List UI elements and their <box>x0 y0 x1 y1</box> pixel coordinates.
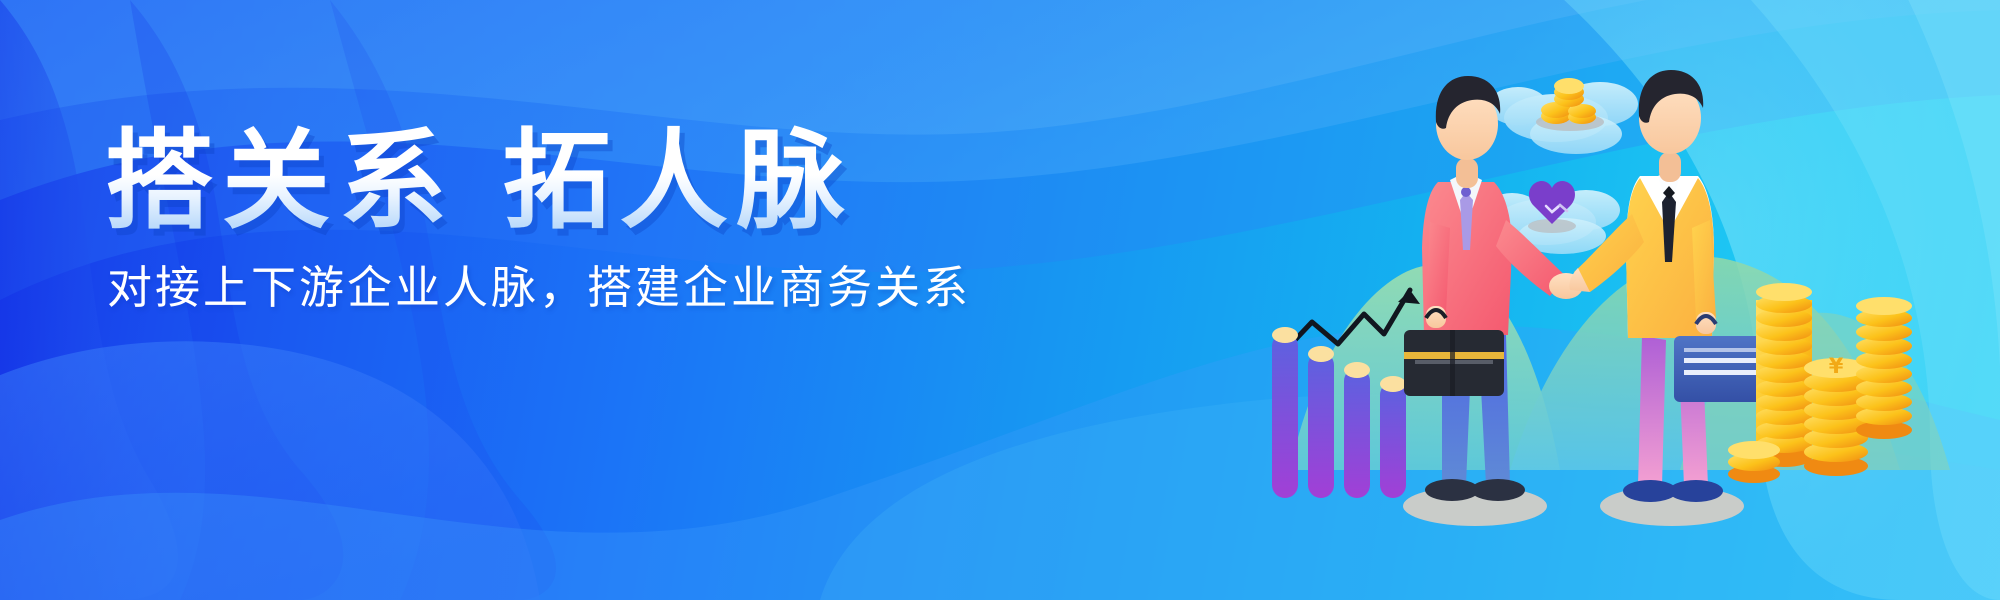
illustration-svg: ¥ <box>1260 0 2000 600</box>
right-person-shoe-b <box>1669 480 1723 502</box>
left-person-shoe-b <box>1471 479 1525 501</box>
left-person-shoe-a <box>1425 479 1479 501</box>
page-subtitle: 对接上下游企业人脉，搭建企业商务关系 <box>107 261 1005 315</box>
headline-block: 搭关系 拓人脉 对接上下游企业人脉，搭建企业商务关系 <box>105 125 1005 315</box>
business-illustration: ¥ <box>1260 0 2000 600</box>
coin-stack-right <box>1856 297 1912 439</box>
page-title: 搭关系 拓人脉 <box>105 125 1005 239</box>
promo-banner: 搭关系 拓人脉 对接上下游企业人脉，搭建企业商务关系 <box>0 0 2000 600</box>
yen-symbol: ¥ <box>1829 354 1844 378</box>
coin-stack-back <box>1756 283 1812 467</box>
cloud-bubble-coins <box>1488 78 1638 154</box>
right-person-shoe-a <box>1623 480 1677 502</box>
coin-stack-small <box>1728 441 1780 483</box>
